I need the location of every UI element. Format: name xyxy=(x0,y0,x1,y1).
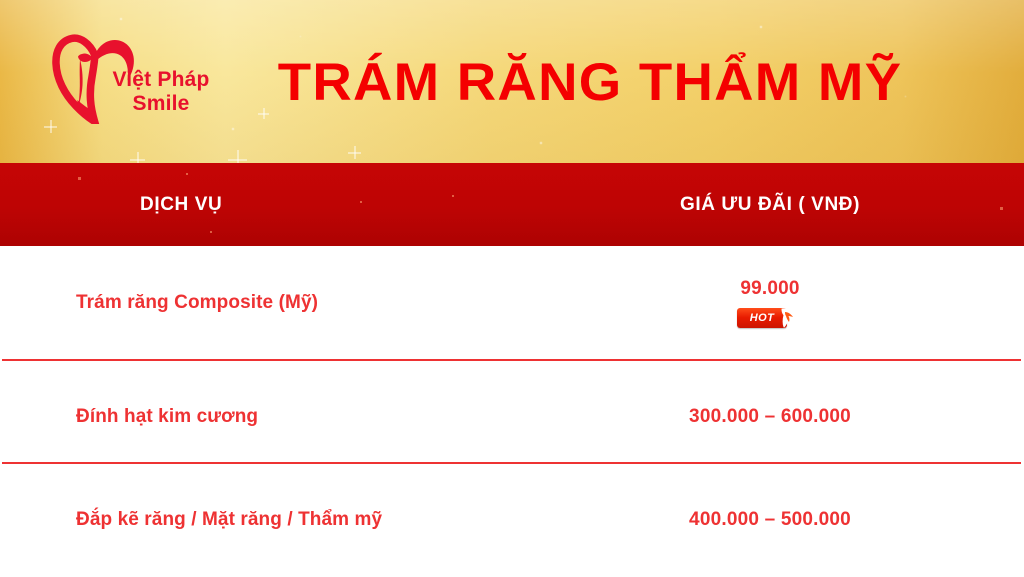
table-row: Trám răng Composite (Mỹ) 99.000 HOT xyxy=(0,246,1024,360)
table-header-band: DỊCH VỤ GIÁ ƯU ĐÃI ( VNĐ) xyxy=(0,163,1024,246)
sparkle-dot xyxy=(300,36,301,37)
table-row: Đính hạt kim cương 300.000 – 600.000 xyxy=(0,360,1024,474)
column-header-service: DỊCH VỤ xyxy=(140,163,222,246)
brand-logo-line1: Việt Pháp xyxy=(96,68,226,92)
gold-banner: Việt Pháp Smile TRÁM RĂNG THẨM MỸ xyxy=(0,0,1024,163)
sparkle-star xyxy=(228,150,247,163)
sparkle-dot xyxy=(120,18,122,20)
sparkle-dot xyxy=(540,142,542,144)
cell-price: 99.000 HOT xyxy=(560,246,980,360)
cell-price: 300.000 – 600.000 xyxy=(560,360,980,474)
price-value: 400.000 – 500.000 xyxy=(689,508,851,532)
texture-speck xyxy=(1000,207,1003,210)
texture-speck xyxy=(360,201,362,203)
cell-price: 400.000 – 500.000 xyxy=(560,463,980,577)
brand-logo: Việt Pháp Smile xyxy=(52,32,217,130)
price-value: 99.000 xyxy=(740,277,799,301)
texture-speck xyxy=(78,177,81,180)
price-table-body: Trám răng Composite (Mỹ) 99.000 HOT Đính… xyxy=(0,246,1024,564)
brand-logo-line2: Smile xyxy=(96,92,226,116)
sparkle-dot xyxy=(760,26,762,28)
table-row: Đắp kẽ răng / Mặt răng / Thẩm mỹ 400.000… xyxy=(0,463,1024,577)
hot-badge: HOT xyxy=(737,307,803,329)
sparkle-star xyxy=(348,146,361,159)
flame-icon xyxy=(777,306,803,330)
cell-service-name: Đắp kẽ răng / Mặt răng / Thẩm mỹ xyxy=(76,463,382,577)
sparkle-star xyxy=(130,152,145,163)
price-value: 300.000 – 600.000 xyxy=(689,405,851,429)
cell-service-name: Đính hạt kim cương xyxy=(76,360,258,474)
cell-service-name: Trám răng Composite (Mỹ) xyxy=(76,246,318,360)
texture-speck xyxy=(452,195,454,197)
page-title: TRÁM RĂNG THẨM MỸ xyxy=(230,52,951,114)
brand-logo-text: Việt Pháp Smile xyxy=(96,68,226,115)
column-header-price: GIÁ ƯU ĐÃI ( VNĐ) xyxy=(560,163,980,246)
sparkle-dot xyxy=(232,128,234,130)
